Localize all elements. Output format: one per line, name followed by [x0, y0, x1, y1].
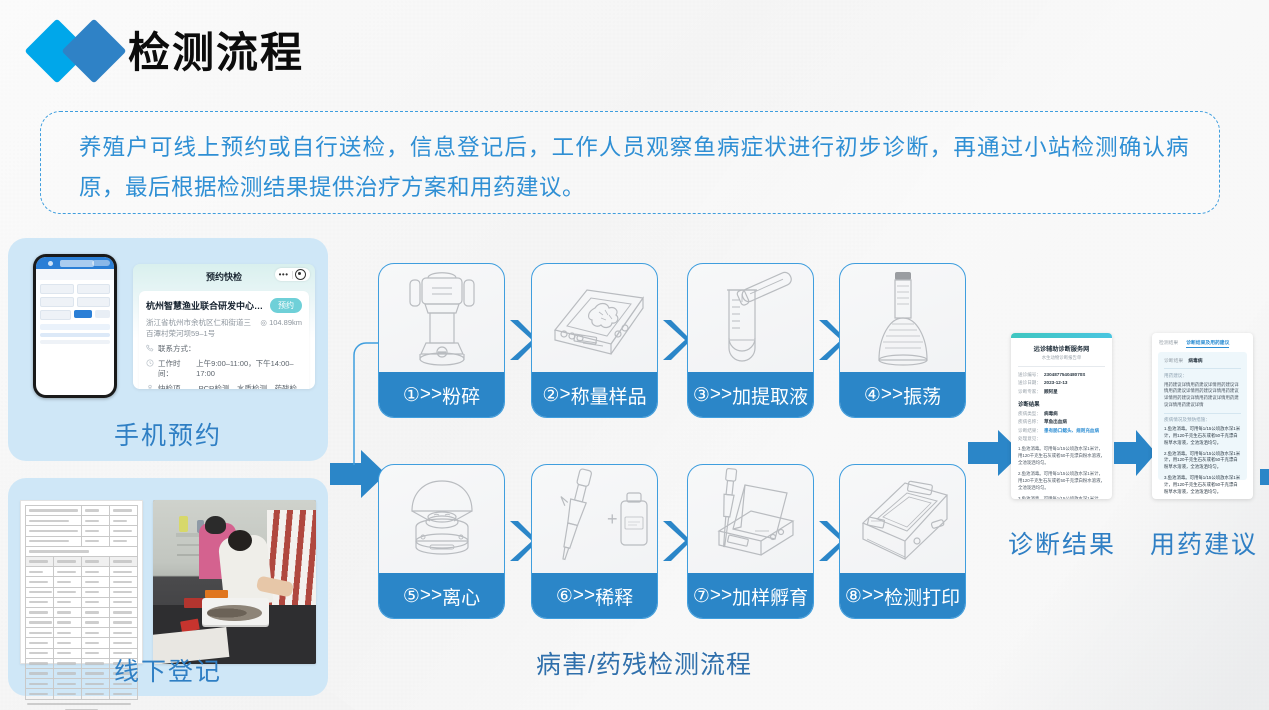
table-row — [26, 587, 138, 597]
phone-select-b — [77, 284, 111, 294]
report-title: 远诊辅助诊断服务网 — [1011, 344, 1112, 353]
advice-text: 用药建议详情用药建议详情用药建议详情用药建议详情用药建议详情用药建议详情用药建议… — [1164, 382, 1241, 409]
page-title: 检测流程 — [128, 24, 304, 82]
registration-form-document — [20, 500, 143, 664]
report-accent-bar — [1011, 333, 1112, 338]
phone-icon — [146, 344, 154, 352]
step-card-6[interactable]: + ⑥>>稀释 — [531, 464, 658, 619]
diagnosis-report-card: 远诊辅助诊断服务网 水生动物诊断报告单 送诊编号：230487754048070… — [1011, 333, 1112, 499]
reader-printer-icon — [840, 465, 965, 576]
phone-capsule-menu — [92, 260, 110, 266]
diamond-right-icon — [61, 18, 126, 83]
advice-body: 诊断结果病毒病 用药建议： 用药建议详情用药建议详情用药建议详情用药建议详情用药… — [1158, 352, 1247, 480]
report-meta-row: 送诊编号：230487754048070S — [1018, 372, 1105, 378]
divider — [1164, 368, 1241, 369]
close-circle-icon[interactable] — [295, 269, 306, 280]
phone-subbar — [36, 269, 114, 280]
station-hours-label: 工作时间： — [158, 359, 192, 379]
step-label-7: ⑦>>加样孵育 — [687, 573, 814, 619]
inspection-photo — [153, 500, 316, 664]
report-detail-row: 诊断结果：患有肠口鳃头、规则充血病 — [1018, 428, 1105, 434]
panel-caption-offline: 线下登记 — [8, 652, 328, 688]
phone-tab-strip[interactable] — [40, 324, 110, 330]
step-card-7[interactable]: ⑦>>加样孵育 — [687, 464, 814, 619]
advice-paragraph: 3.鱼池消毒。可用每1/15公顷放水深1米计，用120千克生石灰或者50千克漂白… — [1164, 475, 1241, 495]
step-label-5: ⑤>>离心 — [378, 573, 505, 619]
grinder-icon — [379, 264, 504, 375]
report-meta-row: 诊断专家：顾阿星 — [1018, 389, 1105, 395]
capsule-divider — [292, 271, 293, 279]
report-paragraph: 1.鱼池消毒。可用每1/15公顷放水深1米计，用120千克生石灰或者50千克漂白… — [1018, 445, 1105, 466]
station-items-value: PCR检测、水质检测、药残检测 — [199, 384, 302, 389]
report-paragraph: 3.鱼池消毒。可用每1/15公顷放水深1米计，用120千克生石灰或者50千克漂白… — [1018, 495, 1105, 500]
tab-diagnosis-advice[interactable]: 诊断结果及用药建议 — [1186, 339, 1229, 348]
step-card-3[interactable]: ③>>加提取液 — [687, 263, 814, 418]
incubator-icon — [688, 465, 813, 576]
panel-caption-mobile: 手机预约 — [8, 416, 328, 452]
station-address: 浙江省杭州市余杭区仁和街道三百潭村荣河坝59–1号 ◎ 104.89km — [146, 317, 302, 339]
phone-select-a — [40, 284, 74, 294]
photo-person-white-head — [228, 530, 252, 551]
divider — [1018, 366, 1105, 367]
table-row — [26, 546, 138, 556]
diagnosis-caption: 诊断结果 — [1008, 525, 1116, 561]
table-row — [26, 597, 138, 607]
table-row — [26, 638, 138, 648]
panel-offline-registration: 线下登记 — [8, 478, 328, 696]
phone-app-title — [60, 260, 94, 267]
book-button[interactable]: 预约 — [270, 298, 302, 313]
phone-input-e — [40, 310, 71, 320]
step-label-3: ③>>加提取液 — [687, 372, 814, 418]
advice-tabs[interactable]: 检测结果 诊断结果及用药建议 — [1152, 333, 1253, 352]
diamond-logo-icon — [34, 22, 138, 82]
table-row — [26, 628, 138, 638]
phone-list-row — [40, 340, 110, 344]
station-head: 杭州智慧渔业联合研发中心–快... 预约 — [146, 298, 302, 313]
step-label-2: ②>称量样品 — [531, 372, 658, 418]
step-card-5[interactable]: ⑤>>离心 — [378, 464, 505, 619]
photo-bottle — [179, 516, 188, 532]
step-card-4[interactable]: ④>>振荡 — [839, 263, 966, 418]
advice-result-row: 诊断结果病毒病 — [1164, 357, 1241, 364]
advice-extra-label: 疾病情况及预防措施： — [1164, 417, 1241, 423]
step-card-2[interactable]: ②>称量样品 — [531, 263, 658, 418]
station-items-row: 快检项目： PCR检测、水质检测、药残检测 — [146, 384, 302, 389]
phone-filter-row-2 — [40, 297, 110, 307]
station-contact-row: 联系方式： — [146, 344, 302, 354]
phone-body — [36, 280, 114, 351]
table-row — [26, 506, 138, 516]
phone-search-button[interactable] — [74, 310, 92, 318]
summary-text: 养殖户可线上预约或自行送检，信息登记后，工作人员观察鱼病症状进行初步诊断，再通过… — [79, 128, 1189, 208]
table-row — [26, 618, 138, 628]
photo-orange-object — [205, 590, 228, 598]
advice-label: 用药建议： — [1164, 373, 1241, 379]
report-detail-row: 处理意见： — [1018, 436, 1105, 442]
table-row — [26, 516, 138, 526]
station-address-text: 浙江省杭州市余杭区仁和街道三百潭村荣河坝59–1号 — [146, 318, 251, 338]
report-meta-row: 送诊日期：2023-12-13 — [1018, 380, 1105, 386]
phone-input-d — [77, 297, 111, 307]
advice-paragraph: 2.鱼池消毒。可用每1/15公顷放水深1米计，用120千克生石灰或者50千克漂白… — [1164, 451, 1241, 471]
svg-text:+: + — [607, 509, 618, 529]
phone-mockup — [33, 254, 117, 398]
appointment-header: 预约快检 ••• — [133, 264, 315, 288]
step-label-6: ⑥>>稀释 — [531, 573, 658, 619]
phone-reset-button[interactable] — [95, 310, 110, 318]
decorative-square — [1260, 469, 1269, 485]
test-tube-icon — [688, 264, 813, 375]
form-note — [25, 703, 138, 705]
station-contact-label: 联系方式： — [158, 344, 196, 354]
centrifuge-icon — [379, 465, 504, 576]
station-items-label: 快检项目： — [158, 384, 195, 389]
advice-paragraph: 1.鱼池消毒。可用每1/15公顷放水深1米计，用120千克生石灰或者50千克漂白… — [1164, 426, 1241, 446]
station-distance: ◎ 104.89km — [260, 317, 302, 328]
advice-caption: 用药建议 — [1150, 525, 1258, 561]
photo-red-box — [184, 598, 204, 608]
more-icon[interactable]: ••• — [279, 270, 289, 280]
step-card-1[interactable]: ①>>粉碎 — [378, 263, 505, 418]
station-hours-value: 上午9:00–11:00，下午14:00–17:00 — [196, 359, 302, 379]
phone-select-c — [40, 297, 74, 307]
step-card-8[interactable]: ⑧>>检测打印 — [839, 464, 966, 619]
station-name: 杭州智慧渔业联合研发中心–快... — [146, 299, 266, 312]
table-row — [26, 526, 138, 536]
back-icon — [48, 261, 53, 266]
table-row — [26, 607, 138, 617]
clock-icon — [146, 359, 154, 367]
mini-program-capsule[interactable]: ••• — [275, 268, 310, 281]
arrow-to-advice-icon — [1114, 430, 1156, 481]
table-row — [26, 567, 138, 577]
report-subtitle: 水生动物诊断报告单 — [1011, 355, 1112, 361]
phone-screen — [36, 257, 114, 395]
panel-mobile-appointment: 预约快检 ••• 杭州智慧渔业联合研发中心–快... 预约 浙江省杭州市余杭区仁… — [8, 238, 328, 461]
report-detail-row: 疾病名称：草鱼出血病 — [1018, 419, 1105, 425]
medication-advice-card: 检测结果 诊断结果及用药建议 诊断结果病毒病 用药建议： 用药建议详情用药建议详… — [1152, 333, 1253, 499]
step-label-1: ①>>粉碎 — [378, 372, 505, 418]
step-label-8: ⑧>>检测打印 — [839, 573, 966, 619]
report-detail-row: 疾病类型：病毒病 — [1018, 411, 1105, 417]
tab-test-result[interactable]: 检测结果 — [1159, 339, 1178, 348]
report-paragraph: 2.鱼池消毒。可用每1/15公顷放水深1米计，用120千克生石灰或者50千克漂白… — [1018, 470, 1105, 491]
flow-caption: 病害/药残检测流程 — [536, 645, 752, 681]
table-row — [26, 689, 138, 699]
table-header-row — [26, 556, 138, 566]
slide-canvas: 检测流程 养殖户可线上预约或自行送检，信息登记后，工作人员观察鱼病症状进行初步诊… — [0, 0, 1269, 710]
scale-icon — [532, 264, 657, 375]
summary-box: 养殖户可线上预约或自行送检，信息登记后，工作人员观察鱼病症状进行初步诊断，再通过… — [40, 111, 1220, 214]
step-label-4: ④>>振荡 — [839, 372, 966, 418]
user-icon — [146, 384, 154, 389]
station-hours-row: 工作时间： 上午9:00–11:00，下午14:00–17:00 — [146, 359, 302, 379]
divider — [1164, 413, 1241, 414]
phone-list-row — [40, 333, 110, 337]
pipette-icon: + — [532, 465, 657, 576]
phone-app-bar — [36, 257, 114, 269]
report-section-title: 诊断结果 — [1018, 400, 1105, 408]
station-card: 杭州智慧渔业联合研发中心–快... 预约 浙江省杭州市余杭区仁和街道三百潭村荣河… — [139, 291, 309, 389]
table-row — [26, 577, 138, 587]
appointment-card: 预约快检 ••• 杭州智慧渔业联合研发中心–快... 预约 浙江省杭州市余杭区仁… — [133, 264, 315, 389]
phone-action-row — [40, 310, 110, 320]
table-row — [26, 536, 138, 546]
vortex-mixer-icon — [840, 264, 965, 375]
photo-person-pink-head — [205, 516, 226, 534]
phone-filter-row — [40, 284, 110, 294]
